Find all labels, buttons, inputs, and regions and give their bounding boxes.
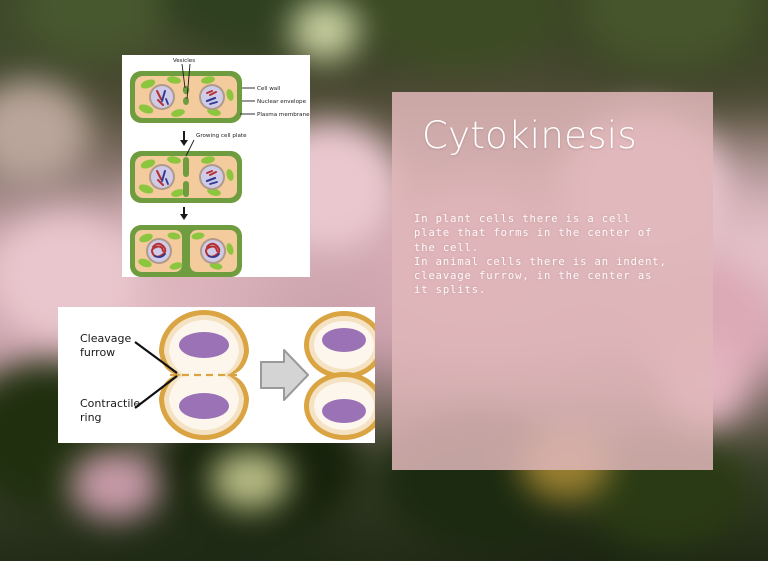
label-contractile-ring-line2: ring — [80, 411, 102, 424]
slide-text-panel: Cytokinesis In plant cells there is a ce… — [392, 92, 713, 470]
plant-stage-3 — [130, 225, 242, 277]
label-growing-cell-plate: Growing cell plate — [196, 133, 247, 139]
label-cleavage-furrow-line2: furrow — [80, 346, 115, 359]
dividing-cell — [159, 310, 249, 440]
label-cleavage-furrow-line1: Cleavage — [80, 332, 131, 345]
slide-canvas: Cytokinesis In plant cells there is a ce… — [0, 0, 768, 561]
label-contractile-ring-line1: Contractile — [80, 397, 140, 410]
page-title: Cytokinesis — [422, 114, 637, 157]
animal-cytokinesis-image: Cleavage furrow Contractile ring — [58, 307, 375, 443]
plant-stage-1 — [130, 64, 242, 123]
label-cell-wall: Cell wall — [257, 86, 281, 92]
plant-diagram-svg: Vesicles Cell wall Nuclear envelope Plas… — [122, 55, 310, 277]
label-nuclear-envelope: Nuclear envelope — [257, 99, 307, 105]
label-vesicles: Vesicles — [173, 58, 195, 64]
slide-body-text: In plant cells there is a cell plate tha… — [414, 212, 699, 298]
animal-diagram-svg: Cleavage furrow Contractile ring — [58, 307, 375, 443]
plant-cytokinesis-image: Vesicles Cell wall Nuclear envelope Plas… — [122, 55, 310, 277]
label-plasma-membrane: Plasma membrane — [257, 112, 310, 118]
